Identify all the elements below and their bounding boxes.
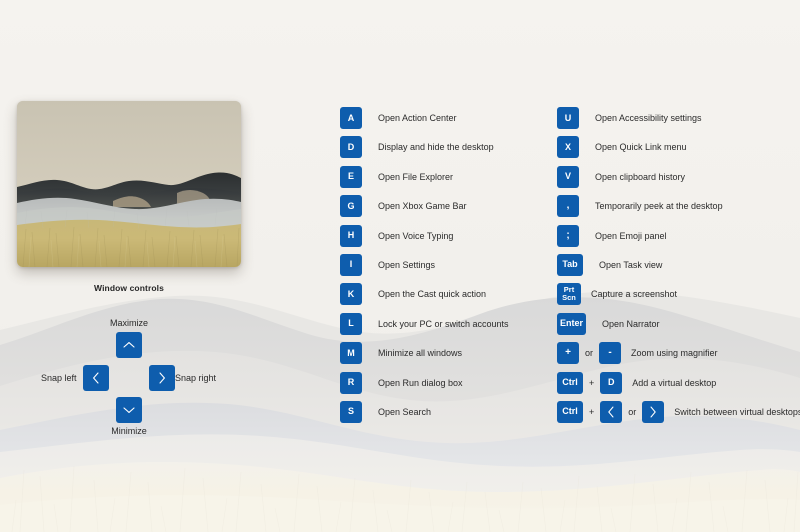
shortcut-description: Open Settings [378, 260, 435, 270]
key-[interactable]: ; [557, 225, 579, 247]
snap-right-key-button[interactable] [149, 365, 175, 391]
shortcut-description: Open Action Center [378, 113, 457, 123]
key-x[interactable]: X [557, 136, 579, 158]
shortcut-description: Add a virtual desktop [632, 378, 716, 388]
key-v[interactable]: V [557, 166, 579, 188]
shortcut-description: Open Run dialog box [378, 378, 463, 388]
minimize-key-button[interactable] [116, 397, 142, 423]
shortcut-row: LLock your PC or switch accounts [340, 313, 509, 335]
shortcut-row: ;Open Emoji panel [557, 225, 800, 247]
shortcut-description: Open File Explorer [378, 172, 453, 182]
shortcut-row: SOpen Search [340, 401, 509, 423]
shortcut-row: ROpen Run dialog box [340, 372, 509, 394]
key-ctrl[interactable]: Ctrl [557, 401, 583, 423]
shortcut-row: AOpen Action Center [340, 107, 509, 129]
shortcut-row: XOpen Quick Link menu [557, 136, 800, 158]
shortcut-row: EOpen File Explorer [340, 166, 509, 188]
shortcut-description: Open Voice Typing [378, 231, 453, 241]
key-chevron-left[interactable] [600, 401, 622, 423]
shortcut-description: Open Narrator [602, 319, 660, 329]
key-k[interactable]: K [340, 283, 362, 305]
key-i[interactable]: I [340, 254, 362, 276]
chevron-left-icon [607, 406, 615, 418]
key-d[interactable]: D [600, 372, 622, 394]
shortcut-row: PrtScnCapture a screenshot [557, 283, 800, 305]
shortcut-row: +or-Zoom using magnifier [557, 342, 800, 364]
shortcut-row: TabOpen Task view [557, 254, 800, 276]
shortcut-list-left: AOpen Action CenterDDisplay and hide the… [340, 107, 509, 430]
snap-right-label: Snap right [175, 373, 216, 383]
shortcut-description: Capture a screenshot [591, 289, 677, 299]
shortcut-description: Open Emoji panel [595, 231, 667, 241]
shortcut-row: DDisplay and hide the desktop [340, 136, 509, 158]
shortcut-row: ,Temporarily peek at the desktop [557, 195, 800, 217]
key-[interactable]: , [557, 195, 579, 217]
shortcut-description: Zoom using magnifier [631, 348, 718, 358]
shortcut-row: IOpen Settings [340, 254, 509, 276]
key-tab[interactable]: Tab [557, 254, 583, 276]
maximize-label: Maximize [17, 318, 241, 328]
key-a[interactable]: A [340, 107, 362, 129]
key-prtscn[interactable]: PrtScn [557, 283, 581, 305]
key-g[interactable]: G [340, 195, 362, 217]
window-controls-title: Window controls [17, 283, 241, 293]
snap-left-key-button[interactable] [83, 365, 109, 391]
shortcut-description: Minimize all windows [378, 348, 462, 358]
chevron-left-icon [92, 372, 100, 384]
key-chevron-right[interactable] [642, 401, 664, 423]
minimize-label: Minimize [17, 426, 241, 436]
shortcut-description: Open Accessibility settings [595, 113, 702, 123]
key-enter[interactable]: Enter [557, 313, 586, 335]
shortcut-description: Open the Cast quick action [378, 289, 486, 299]
shortcut-row: Ctrl+orSwitch between virtual desktops [557, 401, 800, 423]
shortcut-description: Display and hide the desktop [378, 142, 494, 152]
shortcut-row: EnterOpen Narrator [557, 313, 800, 335]
shortcut-description: Open Search [378, 407, 431, 417]
key-joiner: or [579, 348, 599, 358]
key-d[interactable]: D [340, 136, 362, 158]
shortcut-description: Open clipboard history [595, 172, 685, 182]
key-h[interactable]: H [340, 225, 362, 247]
shortcut-description: Lock your PC or switch accounts [378, 319, 509, 329]
shortcut-row: HOpen Voice Typing [340, 225, 509, 247]
key-[interactable]: - [599, 342, 621, 364]
shortcut-description: Temporarily peek at the desktop [595, 201, 723, 211]
key-l[interactable]: L [340, 313, 362, 335]
key-m[interactable]: M [340, 342, 362, 364]
key-u[interactable]: U [557, 107, 579, 129]
chevron-right-icon [158, 372, 166, 384]
chevron-up-icon [123, 341, 135, 349]
chevron-down-icon [123, 406, 135, 414]
maximize-key-button[interactable] [116, 332, 142, 358]
shortcut-description: Open Quick Link menu [595, 142, 687, 152]
key-joiner: + [583, 407, 600, 417]
window-controls-group: Window controls Maximize Minimize Snap l… [17, 283, 241, 443]
shortcut-list-right: UOpen Accessibility settingsXOpen Quick … [557, 107, 800, 430]
shortcut-description: Switch between virtual desktops [674, 407, 800, 417]
key-e[interactable]: E [340, 166, 362, 188]
shortcut-row: Ctrl+DAdd a virtual desktop [557, 372, 800, 394]
chevron-right-icon [649, 406, 657, 418]
shortcut-row: UOpen Accessibility settings [557, 107, 800, 129]
wallpaper-preview-thumbnail [17, 101, 241, 267]
key-joiner: + [583, 378, 600, 388]
key-s[interactable]: S [340, 401, 362, 423]
shortcut-row: KOpen the Cast quick action [340, 283, 509, 305]
key-prtscn-line: Scn [562, 294, 576, 302]
shortcut-description: Open Xbox Game Bar [378, 201, 467, 211]
snap-left-label: Snap left [41, 373, 77, 383]
key-r[interactable]: R [340, 372, 362, 394]
shortcut-row: GOpen Xbox Game Bar [340, 195, 509, 217]
shortcut-row: MMinimize all windows [340, 342, 509, 364]
key-joiner: or [622, 407, 642, 417]
key-ctrl[interactable]: Ctrl [557, 372, 583, 394]
shortcut-description: Open Task view [599, 260, 662, 270]
shortcut-row: VOpen clipboard history [557, 166, 800, 188]
key-[interactable]: + [557, 342, 579, 364]
